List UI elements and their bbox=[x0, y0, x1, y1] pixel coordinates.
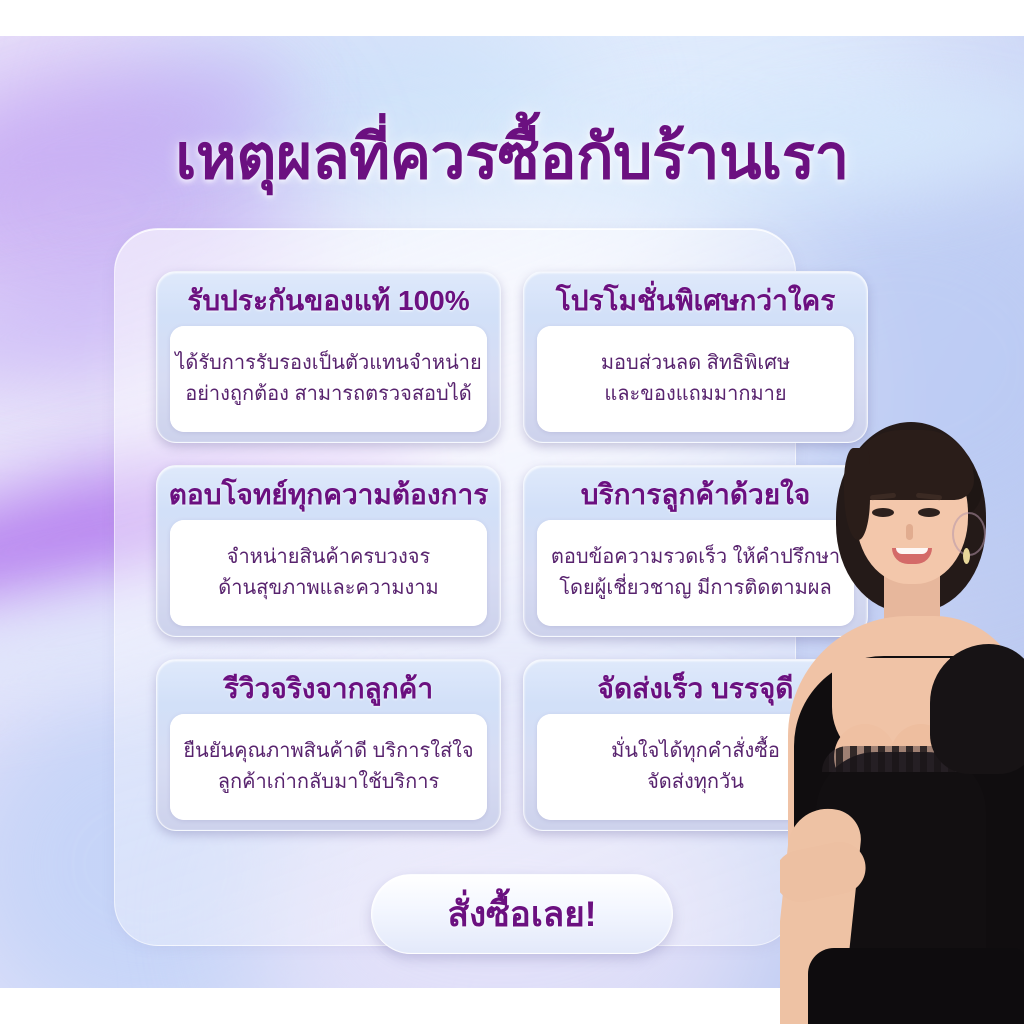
benefit-card-heading: ตอบโจทย์ทุกความต้องการ bbox=[169, 476, 489, 514]
model-earring bbox=[963, 548, 970, 564]
benefit-card-body: ได้รับการรับรองเป็นตัวแทนจำหน่าย อย่างถู… bbox=[170, 326, 487, 432]
benefit-card-body: ยืนยันคุณภาพสินค้าดี บริการใส่ใจ ลูกค้าเ… bbox=[170, 714, 487, 820]
top-white-band bbox=[0, 0, 1024, 36]
order-now-button[interactable]: สั่งซื้อเลย! bbox=[371, 874, 673, 954]
benefit-card[interactable]: รับประกันของแท้ 100% ได้รับการรับรองเป็น… bbox=[156, 271, 501, 443]
benefit-card-line: จำหน่ายสินค้าครบวงจร bbox=[227, 543, 431, 572]
benefit-card-heading: จัดส่งเร็ว บรรจุดี bbox=[598, 670, 794, 708]
model-nose bbox=[906, 524, 913, 540]
benefit-card-line: อย่างถูกต้อง สามารถตรวจสอบได้ bbox=[185, 380, 472, 409]
benefit-card-line: ลูกค้าเก่ากลับมาใช้บริการ bbox=[218, 768, 439, 797]
model-hair-side bbox=[844, 448, 870, 540]
benefit-card-line: มอบส่วนลด สิทธิพิเศษ bbox=[601, 349, 790, 378]
promo-poster: เหตุผลที่ควรซื้อกับร้านเรา รับประกันของแ… bbox=[0, 0, 1024, 1024]
card-row: ตอบโจทย์ทุกความต้องการ จำหน่ายสินค้าครบว… bbox=[156, 465, 868, 637]
order-now-label: สั่งซื้อเลย! bbox=[448, 887, 597, 942]
benefit-card-line: ด้านสุขภาพและความงาม bbox=[218, 574, 438, 603]
model-teeth bbox=[896, 548, 928, 554]
model-dress-skirt bbox=[808, 948, 1024, 1024]
model-eye bbox=[872, 508, 894, 517]
benefit-card-line: ยืนยันคุณภาพสินค้าดี บริการใส่ใจ bbox=[183, 737, 473, 766]
benefit-card-line: มั่นใจได้ทุกคำสั่งซื้อ bbox=[611, 737, 780, 766]
model-ear bbox=[952, 512, 986, 556]
benefit-card-heading: รับประกันของแท้ 100% bbox=[187, 282, 469, 320]
model-eye bbox=[918, 508, 940, 517]
page-title: เหตุผลที่ควรซื้อกับร้านเรา bbox=[0, 108, 1024, 206]
benefit-card-heading: โปรโมชั่นพิเศษกว่าใคร bbox=[556, 282, 836, 320]
benefit-card-line: จัดส่งทุกวัน bbox=[647, 768, 744, 797]
benefit-card-grid: รับประกันของแท้ 100% ได้รับการรับรองเป็น… bbox=[156, 271, 868, 853]
model-dress-sleeve bbox=[930, 644, 1024, 774]
card-row: รีวิวจริงจากลูกค้า ยืนยันคุณภาพสินค้าดี … bbox=[156, 659, 868, 831]
benefit-card-line: ได้รับการรับรองเป็นตัวแทนจำหน่าย bbox=[175, 349, 481, 378]
card-row: รับประกันของแท้ 100% ได้รับการรับรองเป็น… bbox=[156, 271, 868, 443]
benefit-card-heading: บริการลูกค้าด้วยใจ bbox=[581, 476, 810, 514]
benefit-card-line: และของแถมมากมาย bbox=[604, 380, 786, 409]
benefit-card-heading: รีวิวจริงจากลูกค้า bbox=[224, 670, 433, 708]
benefit-card[interactable]: รีวิวจริงจากลูกค้า ยืนยันคุณภาพสินค้าดี … bbox=[156, 659, 501, 831]
model-photo bbox=[780, 408, 1024, 1024]
benefit-card[interactable]: ตอบโจทย์ทุกความต้องการ จำหน่ายสินค้าครบว… bbox=[156, 465, 501, 637]
benefit-card-body: จำหน่ายสินค้าครบวงจร ด้านสุขภาพและความงา… bbox=[170, 520, 487, 626]
